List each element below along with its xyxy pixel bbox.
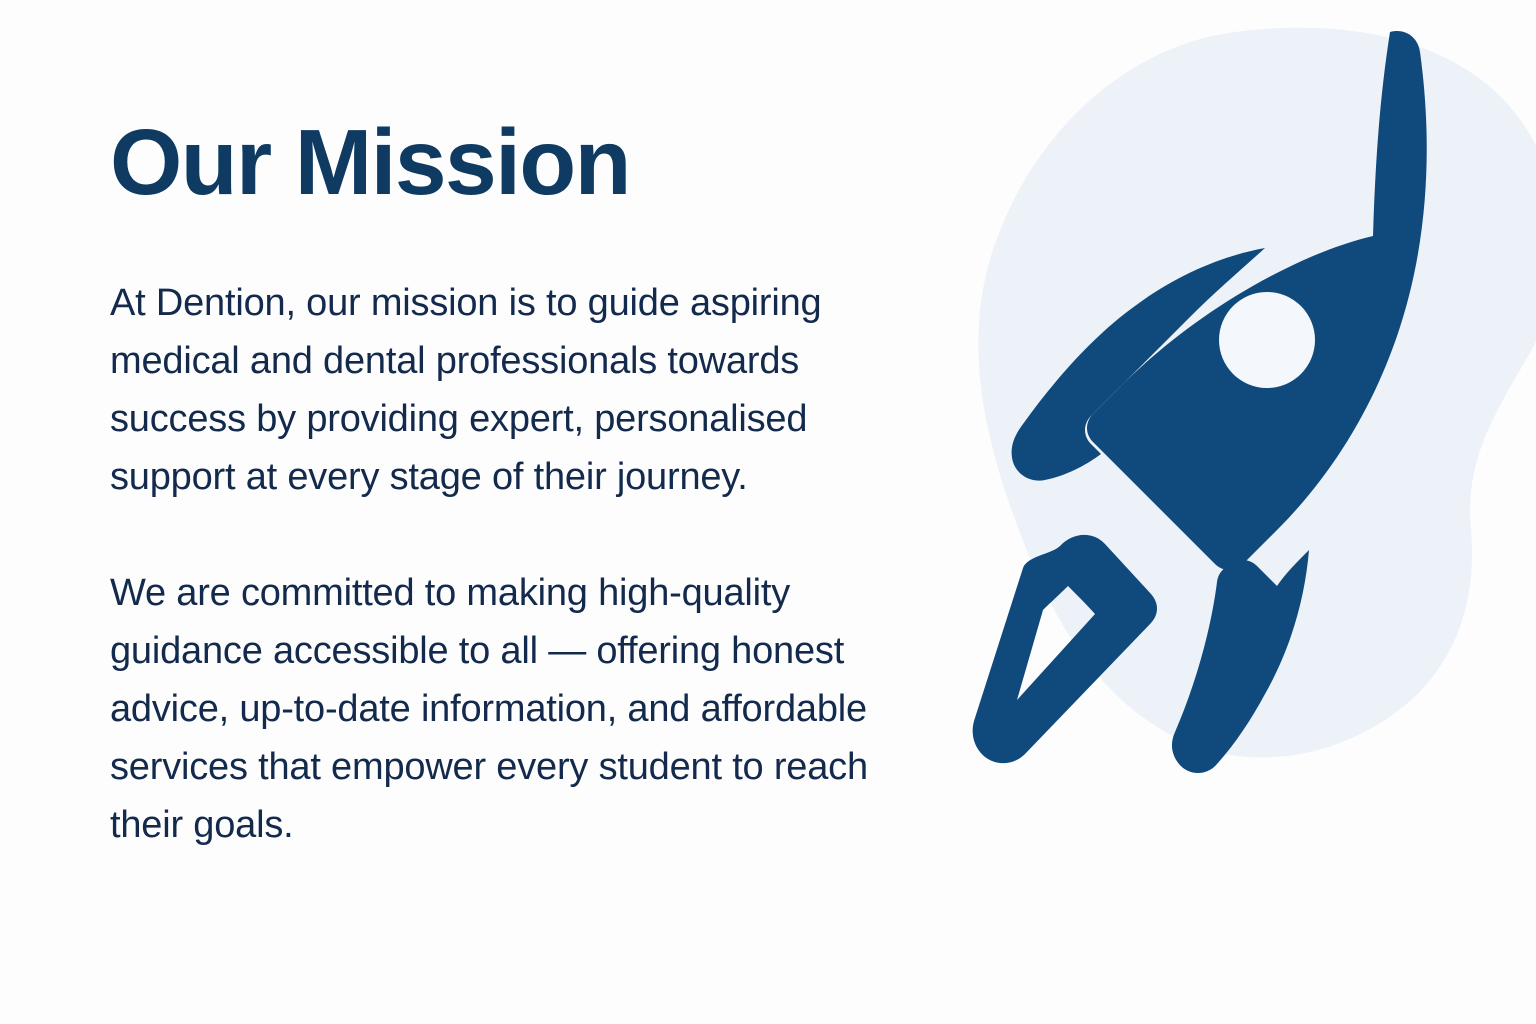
background-blob [978, 28, 1536, 758]
mission-text-column: Our Mission At Dention, our mission is t… [110, 112, 910, 854]
rocket-exhaust-flame [973, 535, 1157, 763]
rocket-right-fin [1172, 550, 1309, 773]
rocket-left-fin [1012, 248, 1265, 481]
rocket-body [1087, 31, 1427, 570]
mission-body: At Dention, our mission is to guide aspi… [110, 274, 910, 854]
mission-paragraph-2: We are committed to making high-quality … [110, 564, 910, 854]
mission-section: Our Mission At Dention, our mission is t… [0, 0, 1536, 1024]
mission-paragraph-1: At Dention, our mission is to guide aspi… [110, 274, 910, 506]
rocket-window [1219, 292, 1315, 388]
rocket-illustration [905, 10, 1536, 810]
page-title: Our Mission [110, 112, 910, 212]
